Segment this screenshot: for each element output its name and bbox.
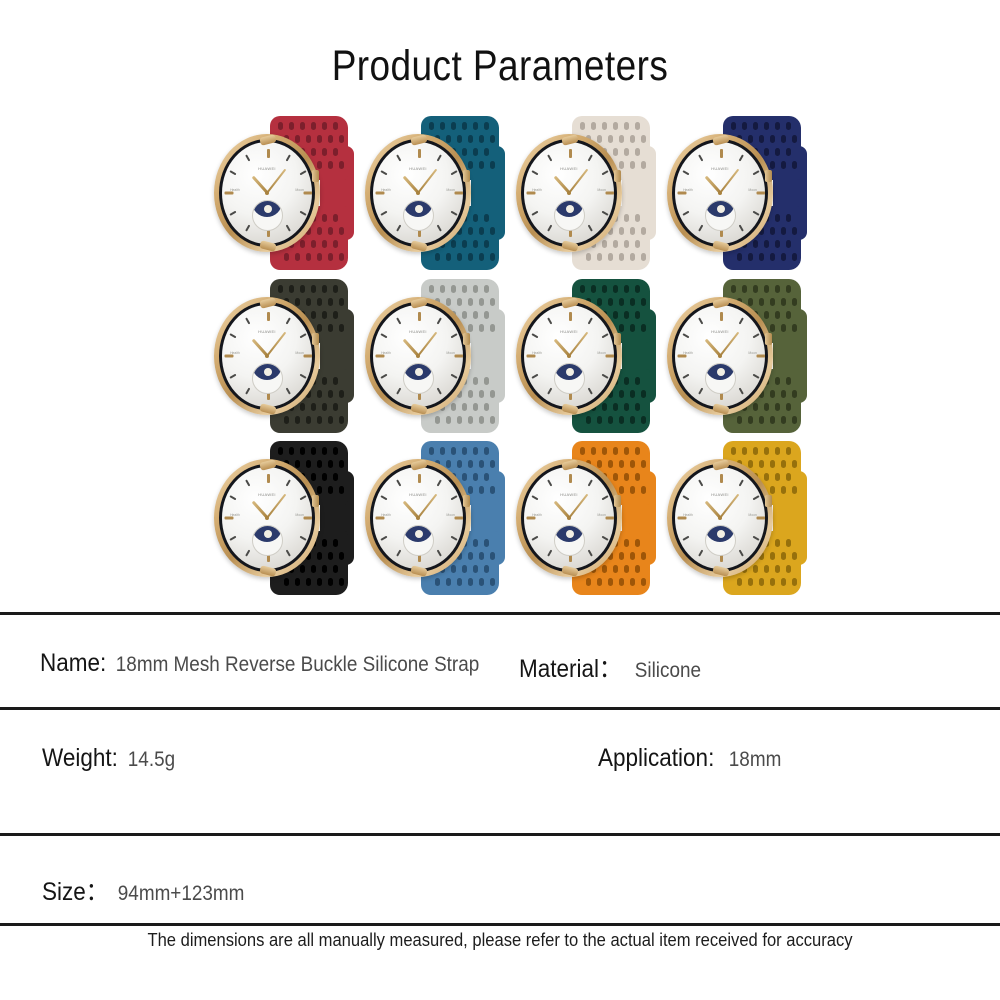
dial-subtext-left: Health bbox=[532, 513, 542, 517]
watch-dial: HUAWEIHealthMoon bbox=[675, 305, 765, 407]
watch-case: HUAWEIHealthMoon bbox=[365, 459, 471, 577]
dial-subtext-right: Moon bbox=[597, 513, 605, 517]
watch-case: HUAWEIHealthMoon bbox=[667, 459, 773, 577]
hands-pin bbox=[718, 191, 722, 195]
hands-pin bbox=[416, 354, 420, 358]
watch-dial: HUAWEIHealthMoon bbox=[524, 467, 614, 569]
moon-phase-subdial bbox=[403, 363, 434, 394]
material-value: Silicone bbox=[633, 659, 701, 683]
spec-cell-name: Name: 18mm Mesh Reverse Buckle Silicone … bbox=[36, 615, 519, 678]
dial-brand-text: HUAWEI bbox=[711, 492, 729, 497]
watch-crown bbox=[614, 170, 621, 182]
minute-hand bbox=[568, 494, 588, 519]
dial-subtext-left: Health bbox=[230, 351, 240, 355]
watch-case: HUAWEIHealthMoon bbox=[214, 134, 320, 252]
moon-icon bbox=[717, 205, 725, 213]
watch-crown bbox=[765, 495, 772, 507]
dial-subtext-right: Moon bbox=[295, 513, 303, 517]
moon-icon bbox=[415, 368, 423, 376]
dial-brand-text: HUAWEI bbox=[711, 329, 729, 334]
dial-brand-text: HUAWEI bbox=[409, 329, 427, 334]
dial-subtext-left: Health bbox=[683, 351, 693, 355]
watch-item[interactable]: HUAWEIHealthMoon bbox=[208, 437, 359, 599]
minute-hand bbox=[266, 331, 286, 356]
size-label: Size： bbox=[42, 872, 108, 908]
watch-item[interactable]: HUAWEIHealthMoon bbox=[359, 112, 510, 274]
moon-icon bbox=[415, 205, 423, 213]
watch-bezel-inner: HUAWEIHealthMoon bbox=[370, 464, 466, 572]
watch-case: HUAWEIHealthMoon bbox=[516, 459, 622, 577]
hands-pin bbox=[567, 191, 571, 195]
divider-bottom bbox=[0, 923, 1000, 926]
weight-value: 14.5g bbox=[126, 748, 175, 772]
watch-bezel-inner: HUAWEIHealthMoon bbox=[370, 139, 466, 247]
watch-case: HUAWEIHealthMoon bbox=[667, 297, 773, 415]
dial-subtext-right: Moon bbox=[446, 513, 454, 517]
moon-phase-subdial bbox=[554, 525, 585, 556]
watch-strap-color-gallery: HUAWEIHealthMoonHUAWEIHealthMoonHUAWEIHe… bbox=[208, 112, 812, 600]
watch-item[interactable]: HUAWEIHealthMoon bbox=[661, 112, 812, 274]
watch-crown bbox=[312, 170, 319, 182]
hands-pin bbox=[567, 354, 571, 358]
watch-dial: HUAWEIHealthMoon bbox=[222, 305, 312, 407]
dial-subtext-left: Health bbox=[683, 513, 693, 517]
watch-item[interactable]: HUAWEIHealthMoon bbox=[359, 275, 510, 437]
hands-pin bbox=[416, 516, 420, 520]
dial-subtext-left: Health bbox=[381, 513, 391, 517]
application-value: 18mm bbox=[727, 748, 781, 772]
minute-hand bbox=[568, 169, 588, 194]
moon-icon bbox=[264, 530, 272, 538]
spec-cell-weight: Weight: 14.5g bbox=[36, 710, 181, 773]
moon-phase-subdial bbox=[705, 525, 736, 556]
watch-dial: HUAWEIHealthMoon bbox=[524, 142, 614, 244]
dial-subtext-left: Health bbox=[683, 188, 693, 192]
watch-crown bbox=[312, 333, 319, 345]
watch-case: HUAWEIHealthMoon bbox=[516, 134, 622, 252]
dial-brand-text: HUAWEI bbox=[258, 329, 276, 334]
minute-hand bbox=[417, 494, 437, 519]
watch-item[interactable]: HUAWEIHealthMoon bbox=[661, 437, 812, 599]
moon-phase-subdial bbox=[705, 363, 736, 394]
watch-dial: HUAWEIHealthMoon bbox=[675, 467, 765, 569]
moon-icon bbox=[566, 205, 574, 213]
dial-subtext-right: Moon bbox=[748, 351, 756, 355]
spec-cell-size: Size： 94mm+123mm bbox=[36, 836, 258, 908]
moon-phase-subdial bbox=[554, 363, 585, 394]
dial-subtext-left: Health bbox=[532, 188, 542, 192]
watch-dial: HUAWEIHealthMoon bbox=[373, 142, 463, 244]
watch-crown bbox=[765, 170, 772, 182]
dial-subtext-left: Health bbox=[381, 351, 391, 355]
spec-row-name: Name: 18mm Mesh Reverse Buckle Silicone … bbox=[0, 615, 1000, 707]
dial-subtext-left: Health bbox=[381, 188, 391, 192]
moon-phase-subdial bbox=[403, 525, 434, 556]
spec-row-weight: Weight: 14.5g Application: 18mm bbox=[0, 710, 1000, 833]
moon-phase-subdial bbox=[252, 200, 283, 231]
spec-table: Name: 18mm Mesh Reverse Buckle Silicone … bbox=[0, 612, 1000, 926]
size-value: 94mm+123mm bbox=[116, 882, 244, 906]
watch-bezel-inner: HUAWEIHealthMoon bbox=[219, 302, 315, 410]
watch-dial: HUAWEIHealthMoon bbox=[222, 467, 312, 569]
dial-subtext-right: Moon bbox=[597, 351, 605, 355]
watch-crown bbox=[614, 495, 621, 507]
dial-subtext-right: Moon bbox=[748, 513, 756, 517]
dial-subtext-right: Moon bbox=[597, 188, 605, 192]
watch-case: HUAWEIHealthMoon bbox=[365, 134, 471, 252]
watch-item[interactable]: HUAWEIHealthMoon bbox=[510, 112, 661, 274]
watch-item[interactable]: HUAWEIHealthMoon bbox=[510, 437, 661, 599]
dial-subtext-right: Moon bbox=[295, 188, 303, 192]
dial-subtext-right: Moon bbox=[748, 188, 756, 192]
dial-brand-text: HUAWEI bbox=[258, 492, 276, 497]
dial-subtext-left: Health bbox=[532, 351, 542, 355]
application-label: Application: bbox=[598, 744, 714, 773]
watch-case: HUAWEIHealthMoon bbox=[667, 134, 773, 252]
watch-dial: HUAWEIHealthMoon bbox=[675, 142, 765, 244]
dial-subtext-right: Moon bbox=[446, 351, 454, 355]
weight-label: Weight: bbox=[42, 744, 118, 773]
moon-phase-subdial bbox=[403, 200, 434, 231]
dial-brand-text: HUAWEI bbox=[409, 492, 427, 497]
watch-bezel-inner: HUAWEIHealthMoon bbox=[672, 139, 768, 247]
watch-crown bbox=[463, 333, 470, 345]
footer-disclaimer: The dimensions are all manually measured… bbox=[40, 930, 960, 951]
hands-pin bbox=[718, 516, 722, 520]
spec-cell-material: Material： Silicone bbox=[519, 615, 708, 685]
hands-pin bbox=[265, 354, 269, 358]
watch-crown bbox=[312, 495, 319, 507]
moon-icon bbox=[566, 368, 574, 376]
hands-pin bbox=[718, 354, 722, 358]
dial-subtext-left: Health bbox=[230, 188, 240, 192]
moon-phase-subdial bbox=[252, 525, 283, 556]
moon-icon bbox=[264, 205, 272, 213]
dial-brand-text: HUAWEI bbox=[409, 166, 427, 171]
dial-brand-text: HUAWEI bbox=[560, 492, 578, 497]
minute-hand bbox=[719, 169, 739, 194]
minute-hand bbox=[568, 331, 588, 356]
watch-bezel-inner: HUAWEIHealthMoon bbox=[521, 464, 617, 572]
hands-pin bbox=[416, 191, 420, 195]
hands-pin bbox=[265, 516, 269, 520]
watch-crown bbox=[765, 333, 772, 345]
hands-pin bbox=[567, 516, 571, 520]
dial-brand-text: HUAWEI bbox=[258, 166, 276, 171]
spec-row-size: Size： 94mm+123mm bbox=[0, 836, 1000, 923]
watch-bezel-inner: HUAWEIHealthMoon bbox=[672, 464, 768, 572]
watch-item[interactable]: HUAWEIHealthMoon bbox=[661, 275, 812, 437]
minute-hand bbox=[417, 331, 437, 356]
watch-item[interactable]: HUAWEIHealthMoon bbox=[208, 112, 359, 274]
watch-dial: HUAWEIHealthMoon bbox=[373, 467, 463, 569]
watch-dial: HUAWEIHealthMoon bbox=[222, 142, 312, 244]
moon-icon bbox=[264, 368, 272, 376]
dial-brand-text: HUAWEI bbox=[560, 166, 578, 171]
page-title: Product Parameters bbox=[70, 0, 930, 91]
watch-crown bbox=[463, 495, 470, 507]
dial-subtext-right: Moon bbox=[446, 188, 454, 192]
material-label: Material： bbox=[519, 649, 622, 685]
dial-brand-text: HUAWEI bbox=[711, 166, 729, 171]
watch-bezel-inner: HUAWEIHealthMoon bbox=[521, 302, 617, 410]
watch-bezel-inner: HUAWEIHealthMoon bbox=[219, 139, 315, 247]
minute-hand bbox=[719, 494, 739, 519]
dial-subtext-left: Health bbox=[230, 513, 240, 517]
watch-bezel-inner: HUAWEIHealthMoon bbox=[521, 139, 617, 247]
watch-crown bbox=[614, 333, 621, 345]
spec-cell-application: Application: 18mm bbox=[598, 710, 788, 773]
watch-bezel-inner: HUAWEIHealthMoon bbox=[672, 302, 768, 410]
name-value: 18mm Mesh Reverse Buckle Silicone Strap bbox=[114, 653, 479, 677]
watch-crown bbox=[463, 170, 470, 182]
watch-bezel-inner: HUAWEIHealthMoon bbox=[370, 302, 466, 410]
moon-icon bbox=[717, 368, 725, 376]
dial-brand-text: HUAWEI bbox=[560, 329, 578, 334]
hands-pin bbox=[265, 191, 269, 195]
watch-dial: HUAWEIHealthMoon bbox=[524, 305, 614, 407]
dial-subtext-right: Moon bbox=[295, 351, 303, 355]
moon-phase-subdial bbox=[252, 363, 283, 394]
watch-item[interactable]: HUAWEIHealthMoon bbox=[208, 275, 359, 437]
watch-case: HUAWEIHealthMoon bbox=[214, 459, 320, 577]
watch-dial: HUAWEIHealthMoon bbox=[373, 305, 463, 407]
watch-case: HUAWEIHealthMoon bbox=[365, 297, 471, 415]
moon-phase-subdial bbox=[554, 200, 585, 231]
watch-case: HUAWEIHealthMoon bbox=[214, 297, 320, 415]
moon-icon bbox=[415, 530, 423, 538]
minute-hand bbox=[417, 169, 437, 194]
moon-icon bbox=[717, 530, 725, 538]
minute-hand bbox=[266, 494, 286, 519]
watch-item[interactable]: HUAWEIHealthMoon bbox=[359, 437, 510, 599]
minute-hand bbox=[719, 331, 739, 356]
watch-case: HUAWEIHealthMoon bbox=[516, 297, 622, 415]
minute-hand bbox=[266, 169, 286, 194]
moon-phase-subdial bbox=[705, 200, 736, 231]
name-label: Name: bbox=[40, 649, 106, 678]
watch-item[interactable]: HUAWEIHealthMoon bbox=[510, 275, 661, 437]
moon-icon bbox=[566, 530, 574, 538]
watch-bezel-inner: HUAWEIHealthMoon bbox=[219, 464, 315, 572]
